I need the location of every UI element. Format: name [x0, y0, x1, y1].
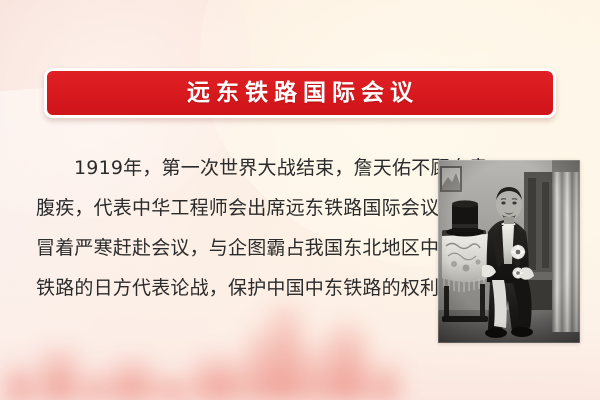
body-line: 冒着严寒赶赴会议，与企图霸占我国东北地区中东 — [36, 228, 424, 268]
skyline-building — [268, 304, 302, 400]
skyline-building — [248, 328, 266, 400]
historical-portrait-photo — [438, 160, 580, 343]
body-line: 腹疾，代表中华工程师会出席远东铁路国际会议， — [36, 188, 424, 228]
skyline-building — [196, 356, 242, 400]
page-title: 远东铁路国际会议 — [181, 82, 419, 105]
body-line: 1919年，第一次世界大战结束，詹天佑不顾身患 — [36, 148, 424, 188]
skyline-building — [306, 344, 322, 400]
skyline-building — [6, 366, 34, 400]
skyline-building — [372, 364, 398, 400]
slide-canvas: 远东铁路国际会议 1919年，第一次世界大战结束，詹天佑不顾身患 腹疾，代表中华… — [0, 0, 600, 400]
skyline-building — [158, 376, 188, 400]
skyline-building — [42, 348, 76, 400]
skyline-building — [326, 322, 366, 400]
body-paragraph: 1919年，第一次世界大战结束，詹天佑不顾身患 腹疾，代表中华工程师会出席远东铁… — [36, 148, 424, 308]
skyline-building — [112, 360, 152, 400]
title-banner: 远东铁路国际会议 — [44, 68, 556, 118]
body-line: 铁路的日方代表论战，保护中国中东铁路的权利。 — [36, 268, 424, 308]
skyline-building — [84, 372, 106, 400]
